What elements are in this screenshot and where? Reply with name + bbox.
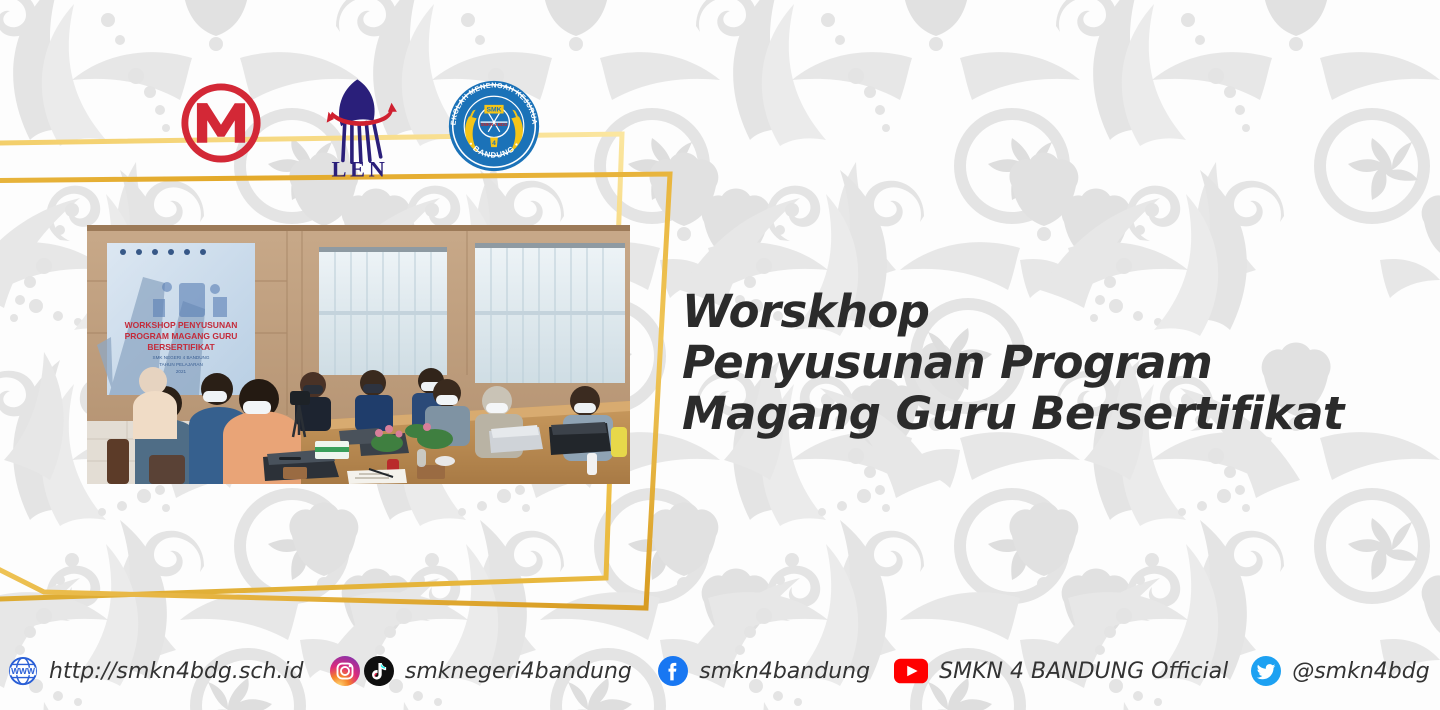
svg-text:TAHUN PELAJARAN: TAHUN PELAJARAN: [159, 362, 203, 367]
facebook-handle: smkn4bandung: [699, 659, 870, 684]
smk-negeri-4-bandung-logo: SMK SMKN 4 BDG 4 SEKOLAH MENENGAH KEJURU…: [446, 78, 542, 174]
footer-twitter[interactable]: @smkn4bdg: [1251, 632, 1429, 710]
len-industri-logo: LEN: [310, 74, 410, 182]
workshop-meeting-photo: WORKSHOP PENYUSUNAN PROGRAM MAGANG GURU …: [87, 225, 630, 484]
footer-website[interactable]: WWW http://smkn4bdg.sch.id: [8, 632, 303, 710]
len-wordmark: LEN: [331, 157, 388, 182]
footer-youtube[interactable]: SMKN 4 BANDUNG Official: [894, 632, 1228, 710]
poster-headline: Worskhop Penyusunan Program Magang Guru …: [682, 286, 1422, 439]
youtube-channel: SMKN 4 BANDUNG Official: [939, 659, 1228, 684]
svg-text:2021: 2021: [176, 369, 187, 374]
svg-text:SMKN 4 BDG: SMKN 4 BDG: [481, 122, 509, 127]
twitter-icon[interactable]: [1251, 656, 1281, 686]
svg-text:4: 4: [492, 140, 496, 147]
headline-line-2: Penyusunan Program: [682, 337, 1422, 388]
twitter-handle: @smkn4bdg: [1292, 659, 1429, 684]
svg-text:SMK NEGERI 4 BANDUNG: SMK NEGERI 4 BANDUNG: [153, 355, 210, 360]
headline-line-3: Magang Guru Bersertifikat: [682, 388, 1422, 439]
website-url: http://smkn4bdg.sch.id: [49, 659, 303, 684]
svg-text:BERSERTIFIKAT: BERSERTIFIKAT: [147, 342, 215, 352]
footer-facebook[interactable]: smkn4bandung: [658, 632, 870, 710]
instagram-icon[interactable]: [330, 656, 360, 686]
social-media-footer: WWW http://smkn4bdg.sch.id: [0, 632, 1440, 710]
instagram-tiktok-handle: smknegeri4bandung: [405, 659, 632, 684]
svg-text:PROGRAM MAGANG GURU: PROGRAM MAGANG GURU: [125, 331, 238, 341]
tiktok-icon[interactable]: [364, 656, 394, 686]
footer-instagram-tiktok[interactable]: smknegeri4bandung: [330, 632, 632, 710]
svg-text:WWW: WWW: [11, 666, 35, 676]
youtube-icon[interactable]: [894, 658, 928, 684]
headline-line-1: Worskhop: [682, 286, 1422, 337]
svg-text:WORKSHOP PENYUSUNAN: WORKSHOP PENYUSUNAN: [125, 320, 238, 330]
www-globe-icon: WWW: [8, 656, 38, 686]
svg-text:SMK: SMK: [487, 107, 502, 114]
facebook-icon[interactable]: [658, 656, 688, 686]
mitras-dudi-m-logo: [178, 80, 264, 166]
partner-logos: LEN SMK: [170, 72, 570, 187]
